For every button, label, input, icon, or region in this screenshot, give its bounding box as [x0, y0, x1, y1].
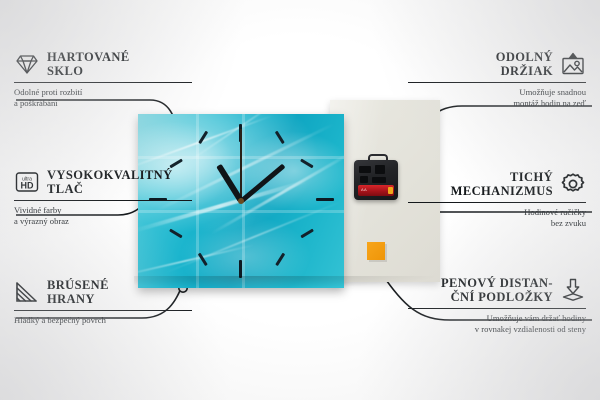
callout-description: Umožňuje vám držať hodinyv rovnakej vzdi… [408, 313, 586, 335]
callout-description: Hladký a bezpečný povrch [14, 315, 192, 326]
clock-tick-4 [300, 229, 313, 238]
mechanism-battery: AA [358, 185, 394, 196]
callout-foam-spacers: PENOVÝ DISTAN-ČNÍ PODLOŽKY Umožňuje vám … [408, 276, 586, 335]
callout-title: ODOLNÝDRŽIAK [408, 50, 553, 78]
svg-text:HD: HD [21, 181, 34, 191]
divider [14, 82, 192, 83]
mechanism-housing: AA [354, 160, 398, 200]
callout-title: PENOVÝ DISTAN-ČNÍ PODLOŽKY [408, 276, 553, 304]
callout-tempered-glass: HARTOVANÉSKLO Odolné proti rozbitía pošk… [14, 50, 192, 109]
foam-spacer-pad [367, 242, 385, 260]
clock-mechanism: AA [354, 160, 398, 200]
gear-icon [560, 171, 586, 197]
callout-ground-edges: BRÚSENÉHRANY Hladký a bezpečný povrch [14, 278, 192, 326]
picture-hanger-icon [560, 51, 586, 77]
divider [14, 200, 192, 201]
callout-title: BRÚSENÉHRANY [47, 278, 192, 306]
callout-description: Hodinové ručičkybez zvuku [408, 207, 586, 229]
divider [408, 82, 586, 83]
callout-title: HARTOVANÉSKLO [47, 50, 192, 78]
infographic-canvas: AA HARTOVANÉSKLO Odolné proti rozbitía p… [0, 0, 600, 400]
callout-description: Odolné proti rozbitía poškrábání [14, 87, 192, 109]
callout-high-quality-print: ultra HD VYSOKOKVALITNÝTLAČ Vividné farb… [14, 168, 192, 227]
divider [14, 310, 192, 311]
diamond-icon [14, 51, 40, 77]
mechanism-detail [360, 176, 368, 183]
callout-durable-holder: ODOLNÝDRŽIAK Umožňuje snadnoumontáž hodi… [408, 50, 586, 109]
callout-description: Vividné farbya výrazný obraz [14, 205, 192, 227]
mechanism-detail [359, 166, 371, 173]
clock-second-hand [240, 129, 242, 201]
battery-label: AA [361, 187, 367, 192]
callout-title: VYSOKOKVALITNÝTLAČ [47, 168, 192, 196]
clock-tick-3 [316, 198, 334, 201]
clock-tick-8 [169, 229, 182, 238]
press-down-pad-icon [560, 277, 586, 303]
mechanism-detail [372, 177, 386, 183]
divider [408, 202, 586, 203]
callout-description: Umožňuje snadnoumontáž hodin na zeď [408, 87, 586, 109]
callout-silent-mechanism: TICHÝMECHANIZMUS Hodinové ručičkybez zvu… [408, 170, 586, 229]
mechanism-detail [375, 165, 385, 174]
callout-title: TICHÝMECHANIZMUS [408, 170, 553, 198]
clock-center-cap [238, 198, 244, 204]
divider [408, 308, 586, 309]
beveled-edge-icon [14, 279, 40, 305]
ultra-hd-icon: ultra HD [14, 169, 40, 195]
